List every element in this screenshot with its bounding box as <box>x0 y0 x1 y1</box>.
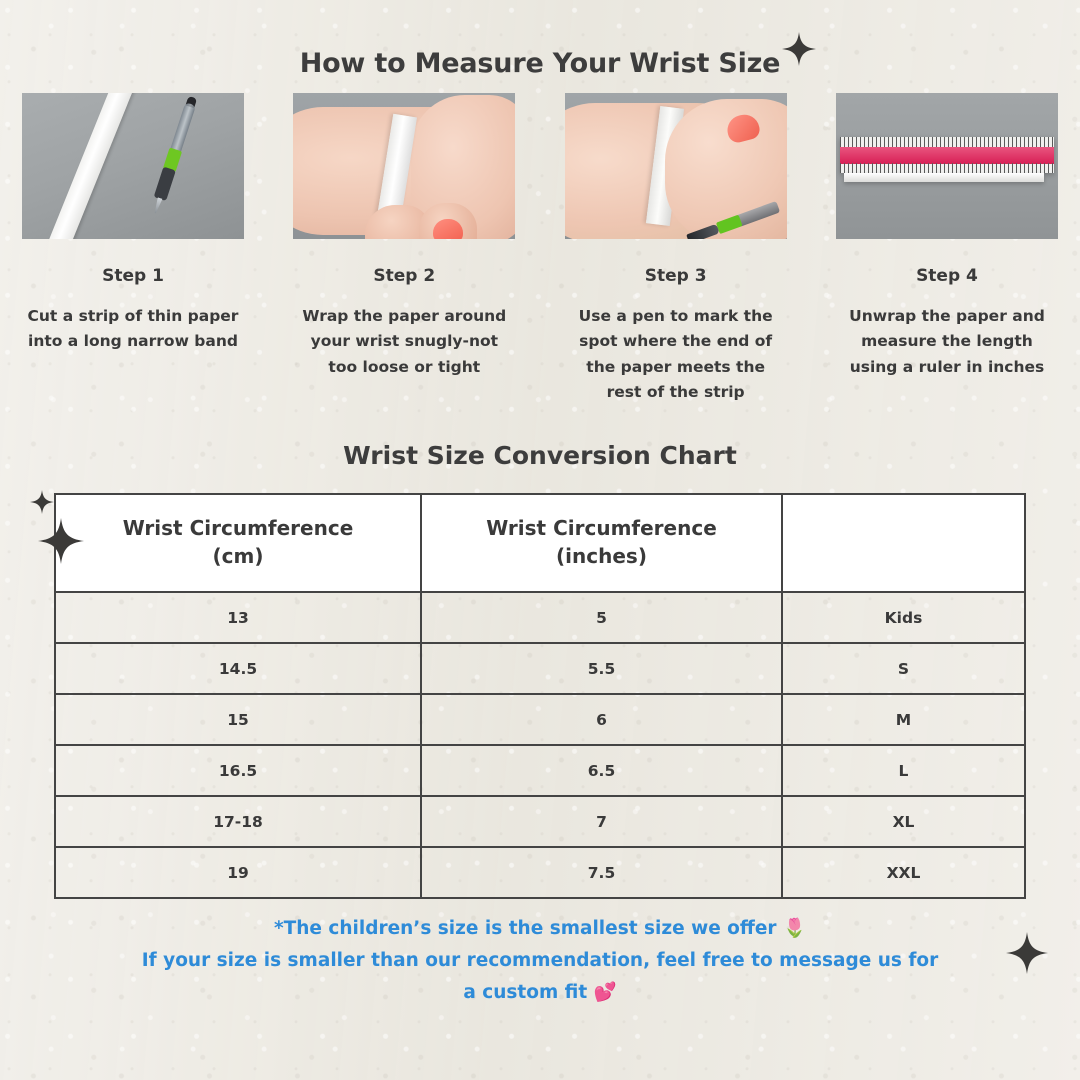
page-title: How to Measure Your Wrist Size <box>0 0 1080 79</box>
step-card-2: Step 2 Wrap the paper around your wrist … <box>293 93 515 405</box>
column-header-inches: Wrist Circumference (inches) <box>421 494 782 592</box>
step-card-3: Step 3 Use a pen to mark the spot where … <box>565 93 787 405</box>
step-4-photo <box>836 93 1058 239</box>
cell-size: L <box>782 745 1025 796</box>
sparkle-icon <box>30 490 54 514</box>
step-2-label: Step 2 <box>373 266 435 286</box>
sparkle-icon <box>782 32 816 66</box>
step-1-label: Step 1 <box>102 266 164 286</box>
paper-strip-shape <box>844 173 1044 182</box>
cell-cm: 14.5 <box>55 643 421 694</box>
table-row: 16.5 6.5 L <box>55 745 1025 796</box>
table-row: 15 6 M <box>55 694 1025 745</box>
step-2-photo <box>293 93 515 239</box>
cell-size: XL <box>782 796 1025 847</box>
footer-note-line-3: a custom fit 💕 <box>50 977 1030 1009</box>
step-4-label: Step 4 <box>916 266 978 286</box>
ruler-shape <box>840 137 1054 173</box>
footer-note-line-1: *The children’s size is the smallest siz… <box>50 913 1030 945</box>
sparkle-icon <box>1006 932 1048 974</box>
step-1-description: Cut a strip of thin paper into a long na… <box>26 304 241 355</box>
step-2-description: Wrap the paper around your wrist snugly-… <box>297 304 512 380</box>
step-3-photo <box>565 93 787 239</box>
cell-inches: 7 <box>421 796 782 847</box>
step-3-label: Step 3 <box>645 266 707 286</box>
column-header-cm-line2: (cm) <box>213 544 264 568</box>
cell-inches: 6.5 <box>421 745 782 796</box>
column-header-inches-line1: Wrist Circumference <box>486 516 717 540</box>
cell-size: M <box>782 694 1025 745</box>
cell-cm: 13 <box>55 592 421 643</box>
step-4-description: Unwrap the paper and measure the length … <box>839 304 1054 380</box>
wrist-size-conversion-table: Wrist Circumference (cm) Wrist Circumfer… <box>54 493 1026 899</box>
footer-note-line-2: If your size is smaller than our recomme… <box>50 945 1030 977</box>
cell-size: S <box>782 643 1025 694</box>
column-header-inches-line2: (inches) <box>556 544 647 568</box>
cell-cm: 15 <box>55 694 421 745</box>
chart-title: Wrist Size Conversion Chart <box>0 405 1080 470</box>
step-card-4: Step 4 Unwrap the paper and measure the … <box>836 93 1058 405</box>
table-row: 14.5 5.5 S <box>55 643 1025 694</box>
step-3-description: Use a pen to mark the spot where the end… <box>568 304 783 405</box>
step-card-1: Step 1 Cut a strip of thin paper into a … <box>22 93 244 405</box>
table-row: 13 5 Kids <box>55 592 1025 643</box>
table-row: 17-18 7 XL <box>55 796 1025 847</box>
cell-size: Kids <box>782 592 1025 643</box>
steps-row: Step 1 Cut a strip of thin paper into a … <box>0 93 1080 405</box>
cell-cm: 19 <box>55 847 421 898</box>
cell-cm: 16.5 <box>55 745 421 796</box>
column-header-size <box>782 494 1025 592</box>
cell-inches: 7.5 <box>421 847 782 898</box>
footer-note: *The children’s size is the smallest siz… <box>50 913 1030 1008</box>
column-header-cm-line1: Wrist Circumference <box>123 516 354 540</box>
cell-inches: 5 <box>421 592 782 643</box>
table-header: Wrist Circumference (cm) Wrist Circumfer… <box>55 494 1025 592</box>
step-1-photo <box>22 93 244 239</box>
table-body: 13 5 Kids 14.5 5.5 S 15 6 M 16.5 6.5 L 1… <box>55 592 1025 898</box>
cell-inches: 5.5 <box>421 643 782 694</box>
cell-inches: 6 <box>421 694 782 745</box>
table-row: 19 7.5 XXL <box>55 847 1025 898</box>
column-header-cm: Wrist Circumference (cm) <box>55 494 421 592</box>
table-header-row: Wrist Circumference (cm) Wrist Circumfer… <box>55 494 1025 592</box>
cell-cm: 17-18 <box>55 796 421 847</box>
cell-size: XXL <box>782 847 1025 898</box>
sparkle-icon <box>38 518 84 564</box>
